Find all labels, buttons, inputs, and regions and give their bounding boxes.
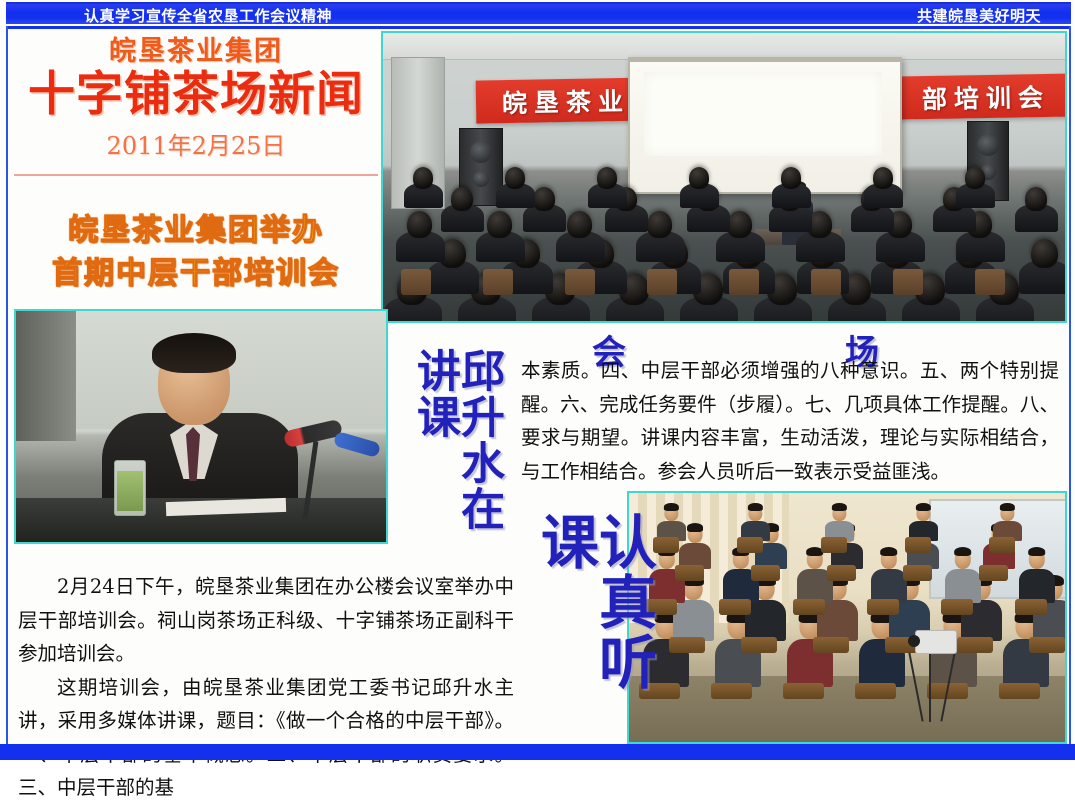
article-headline: 皖垦茶业集团举办 首期中层干部培训会: [14, 210, 378, 295]
masthead-organization: 皖垦茶业集团: [14, 36, 378, 67]
headline-line-2: 首期中层干部培训会: [14, 253, 378, 296]
article-body-right: 本素质。四、中层干部必须增强的八种意识。五、两个特别提醒。六、完成任务要件（步履…: [521, 354, 1059, 488]
tea-glass: [114, 460, 146, 516]
photo-meeting-room: 皖垦茶业 部培训会: [381, 31, 1067, 323]
caption-audience: 认真听课: [536, 512, 652, 740]
page-edge-right: [1069, 26, 1071, 744]
masthead-title: 十字铺茶场新闻: [14, 69, 378, 122]
top-slogan-bar: 认真学习宣传全省农垦工作会议精神 共建皖垦美好明天: [6, 2, 1071, 24]
photo-audience: [627, 491, 1067, 744]
masthead: 皖垦茶业集团 十字铺茶场新闻 2011年2月25日: [14, 36, 378, 176]
photo-banner-right-text: 部培训会: [891, 73, 1067, 119]
masthead-date: 2011年2月25日: [14, 126, 378, 161]
photo-lecturer: [14, 309, 388, 544]
slogan-left: 认真学习宣传全省农垦工作会议精神: [84, 5, 332, 26]
newsletter-page: 认真学习宣传全省农垦工作会议精神 共建皖垦美好明天 皖垦茶业集团 十字铺茶场新闻…: [0, 0, 1075, 760]
bottom-bar: [0, 744, 1075, 760]
masthead-divider: [14, 174, 378, 176]
audience-figures: [383, 161, 1065, 321]
caption-lecturer: 邱升水在讲课: [412, 348, 500, 538]
article-body-left: 2月24日下午，皖垦茶业集团在办公楼会议室举办中层干部培训会。祠山岗茶场正科级、…: [18, 570, 514, 805]
camera-icon: [915, 630, 957, 654]
headline-line-1: 皖垦茶业集团举办: [14, 210, 378, 253]
article-paragraph-1: 2月24日下午，皖垦茶业集团在办公楼会议室举办中层干部培训会。祠山岗茶场正科级、…: [18, 570, 514, 671]
article-paragraph-3: 本素质。四、中层干部必须增强的八种意识。五、两个特别提醒。六、完成任务要件（步履…: [521, 354, 1059, 488]
slogan-right: 共建皖垦美好明天: [917, 5, 1041, 26]
page-edge-left: [6, 26, 8, 744]
top-rule: [6, 26, 1071, 29]
article-paragraph-2: 这期培训会，由皖垦茶业集团党工委书记邱升水主讲，采用多媒体讲课，题目：《做一个合…: [18, 671, 514, 805]
